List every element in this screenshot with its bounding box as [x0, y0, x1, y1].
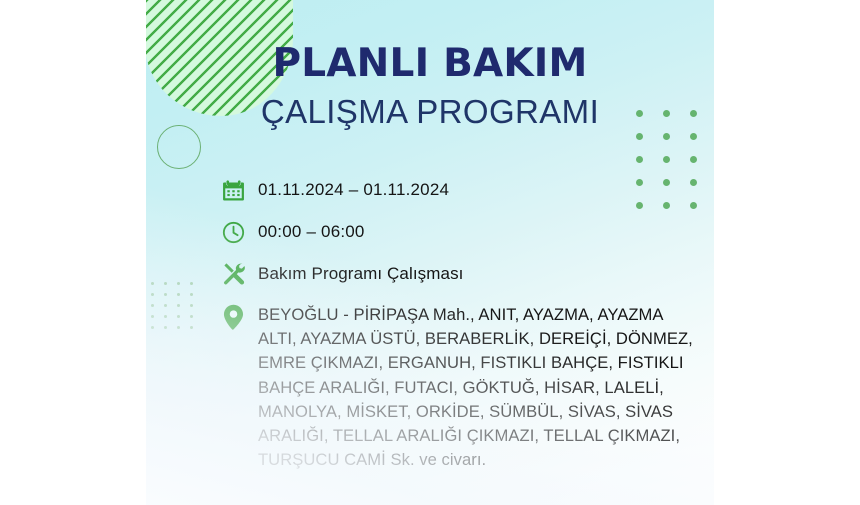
time-range-value: 00:00 – 06:00 — [258, 218, 365, 243]
circle-outline-decoration — [157, 125, 201, 169]
info-row-address: BEYOĞLU - PİRİPAŞA Mah., ANIT, AYAZMA, A… — [222, 302, 698, 473]
info-row-work-type: Bakım Programı Çalışması — [222, 260, 698, 288]
poster-header: PLANLI BAKIM ÇALIŞMA PROGRAMI — [146, 44, 714, 128]
page-subtitle: ÇALIŞMA PROGRAMI — [146, 95, 714, 128]
info-list: 01.11.2024 – 01.11.2024 00:00 – 06:00 — [222, 176, 698, 473]
screenshot-root: PLANLI BAKIM ÇALIŞMA PROGRAMI — [0, 0, 860, 505]
info-row-date: 01.11.2024 – 01.11.2024 — [222, 176, 698, 204]
page-title: PLANLI BAKIM — [146, 44, 714, 83]
work-type-value: Bakım Programı Çalışması — [258, 260, 464, 285]
info-row-time: 00:00 – 06:00 — [222, 218, 698, 246]
clock-icon — [222, 218, 258, 246]
tools-icon — [222, 260, 258, 288]
address-value: BEYOĞLU - PİRİPAŞA Mah., ANIT, AYAZMA, A… — [258, 302, 698, 473]
dot-grid-left-decoration — [151, 282, 203, 337]
date-range-value: 01.11.2024 – 01.11.2024 — [258, 176, 449, 201]
maintenance-notice-poster: PLANLI BAKIM ÇALIŞMA PROGRAMI — [146, 0, 714, 505]
location-pin-icon — [222, 302, 258, 332]
calendar-icon — [222, 176, 258, 204]
